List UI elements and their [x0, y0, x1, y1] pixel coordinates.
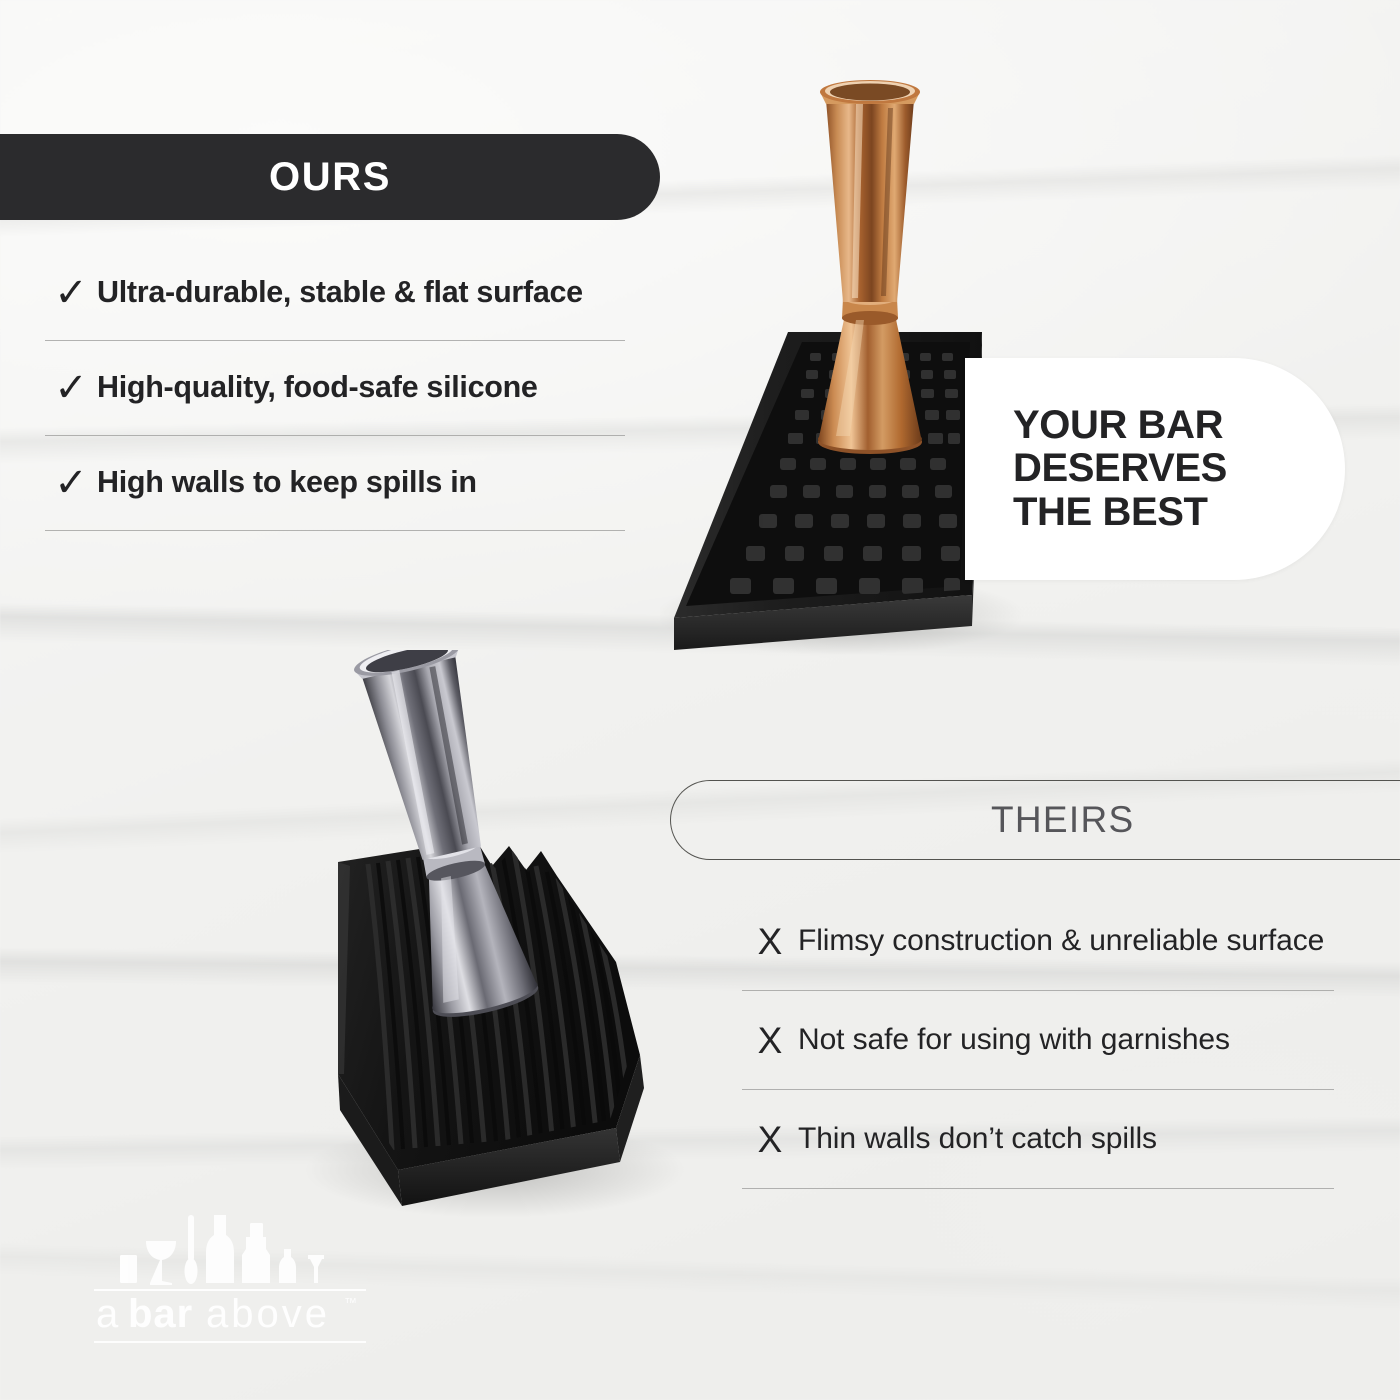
divider	[742, 1089, 1334, 1090]
list-item: ✓ High walls to keep spills in	[45, 436, 625, 530]
theirs-item-label: Not safe for using with garnishes	[798, 1021, 1334, 1059]
check-icon: ✓	[45, 273, 97, 313]
list-item: ✓ High-quality, food-safe silicone	[45, 341, 625, 435]
list-item: X Flimsy construction & unreliable surfa…	[742, 892, 1334, 990]
theirs-item-label: Thin walls don’t catch spills	[798, 1120, 1334, 1158]
promo-badge-text: YOUR BAR DESERVES THE BEST	[965, 404, 1227, 534]
ours-item-label: High walls to keep spills in	[97, 464, 625, 501]
list-item: X Thin walls don’t catch spills	[742, 1090, 1334, 1188]
promo-badge-line-1: YOUR BAR	[1013, 404, 1227, 447]
divider	[45, 340, 625, 341]
ours-header-pill: OURS	[0, 134, 660, 220]
logo-rule-bottom	[94, 1341, 366, 1343]
divider	[742, 1188, 1334, 1189]
ours-item-label: Ultra-durable, stable & flat surface	[97, 274, 625, 311]
divider	[45, 530, 625, 531]
logo-wordmark-above: above	[206, 1292, 330, 1336]
bar-tools-silhouette	[120, 1215, 324, 1285]
theirs-drawback-list: X Flimsy construction & unreliable surfa…	[742, 892, 1334, 1189]
brand-logo: a bar above ™	[80, 1215, 380, 1355]
list-item: X Not safe for using with garnishes	[742, 991, 1334, 1089]
check-icon: ✓	[45, 368, 97, 408]
promo-badge-line-3: THE BEST	[1013, 491, 1227, 534]
theirs-header-pill: THEIRS	[670, 780, 1400, 860]
ours-header-label: OURS	[269, 155, 391, 200]
logo-rule-top	[94, 1289, 366, 1291]
x-icon: X	[742, 1121, 798, 1158]
divider	[45, 435, 625, 436]
theirs-product-photo	[280, 650, 730, 1290]
ours-item-label: High-quality, food-safe silicone	[97, 369, 625, 406]
list-item: ✓ Ultra-durable, stable & flat surface	[45, 246, 625, 340]
logo-trademark: ™	[344, 1295, 357, 1310]
ours-feature-list: ✓ Ultra-durable, stable & flat surface ✓…	[45, 246, 625, 531]
theirs-header-label: THEIRS	[991, 799, 1134, 841]
promo-badge-line-2: DESERVES	[1013, 447, 1227, 490]
logo-wordmark-a: a	[96, 1292, 121, 1336]
x-icon: X	[742, 1022, 798, 1059]
promo-badge: YOUR BAR DESERVES THE BEST	[965, 358, 1345, 580]
logo-wordmark-bar: bar	[128, 1292, 193, 1336]
theirs-item-label: Flimsy construction & unreliable surface	[798, 922, 1334, 960]
check-icon: ✓	[45, 463, 97, 503]
x-icon: X	[742, 923, 798, 960]
divider	[742, 990, 1334, 991]
